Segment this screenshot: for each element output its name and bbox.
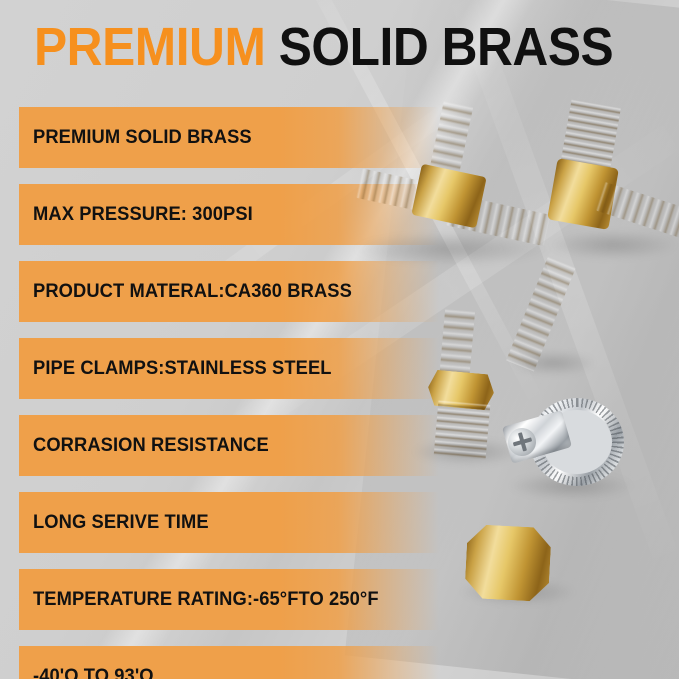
feature-row: -40'O TO 93'O — [0, 646, 679, 679]
feature-label: PRODUCT MATERAL:CA360 BRASS — [33, 261, 352, 322]
feature-label: TEMPERATURE RATING:-65°FTO 250°F — [33, 569, 379, 630]
title-accent-word: PREMIUM — [34, 17, 265, 77]
brass-female-hex-barb-adapter — [462, 478, 566, 600]
product-infographic: PREMIUM SOLID BRASS PREMIUM SOLID BRASS … — [0, 0, 679, 679]
feature-label: -40'O TO 93'O — [33, 646, 154, 679]
feature-label: PREMIUM SOLID BRASS — [33, 107, 252, 168]
brass-hex-male-barb-adapter — [418, 310, 514, 458]
feature-label: CORRASION RESISTANCE — [33, 415, 269, 476]
feature-row: TEMPERATURE RATING:-65°FTO 250°F — [0, 569, 679, 630]
feature-row: LONG SERIVE TIME — [0, 492, 679, 553]
feature-label: PIPE CLAMPS:STAINLESS STEEL — [33, 338, 332, 399]
hex-male-thread-end — [434, 400, 491, 460]
stainless-steel-hose-clamp — [508, 388, 636, 494]
title-rest: SOLID BRASS — [279, 17, 613, 77]
brass-tee-barb-fitting — [352, 108, 542, 260]
female-hex-nut — [464, 524, 552, 602]
brass-elbow-barb-fitting — [520, 105, 679, 265]
brass-straight-barb-union — [512, 258, 582, 378]
union-barb-shaft — [506, 256, 576, 371]
feature-label: MAX PRESSURE: 300PSI — [33, 184, 253, 245]
elbow-barb-leg — [596, 182, 679, 238]
feature-label: LONG SERIVE TIME — [33, 492, 209, 553]
page-title: PREMIUM SOLID BRASS — [34, 20, 613, 74]
tee-hub — [411, 164, 486, 229]
